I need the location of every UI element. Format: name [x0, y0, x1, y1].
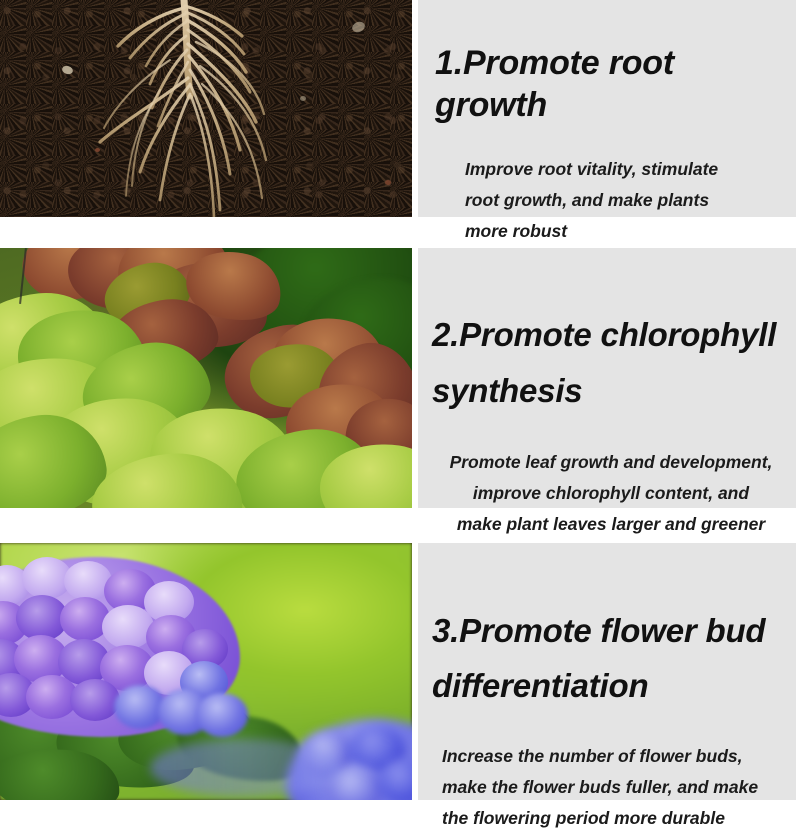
- root-system-illustration: [0, 0, 412, 217]
- hydrangea-floret: [196, 693, 248, 737]
- hydrangea-floret: [70, 679, 120, 721]
- benefit-body-3: Increase the number of flower buds, make…: [442, 741, 790, 834]
- benefit-text-card-3: 3.Promote flower bud differentiation Inc…: [418, 543, 796, 800]
- bokeh-streak: [150, 739, 340, 797]
- benefit-title-2: 2.Promote chlorophyll synthesis: [432, 307, 790, 419]
- benefit-title-3: 3.Promote flower bud differentiation: [432, 603, 790, 713]
- benefit-text-card-2: 2.Promote chlorophyll synthesis Promote …: [418, 248, 796, 508]
- roots-svg: [0, 0, 412, 217]
- benefit-body-2: Promote leaf growth and development, imp…: [432, 447, 790, 540]
- plant-roots-in-dark-soil-photo: [0, 0, 412, 217]
- lettuce-garden-bed-photo: [0, 248, 412, 508]
- benefit-panel-1: 1.Promote root growth Improve root vital…: [0, 0, 800, 217]
- benefits-infographic: 1.Promote root growth Improve root vital…: [0, 0, 800, 800]
- benefit-title-1: 1.Promote root growth: [435, 42, 788, 126]
- purple-hydrangea-bloom-photo: [0, 543, 412, 800]
- benefit-panel-2: 2.Promote chlorophyll synthesis Promote …: [0, 248, 800, 508]
- benefit-panel-3: 3.Promote flower bud differentiation Inc…: [0, 543, 800, 800]
- benefit-text-card-1: 1.Promote root growth Improve root vital…: [418, 0, 796, 217]
- benefit-body-1: Improve root vitality, stimulate root gr…: [465, 154, 788, 247]
